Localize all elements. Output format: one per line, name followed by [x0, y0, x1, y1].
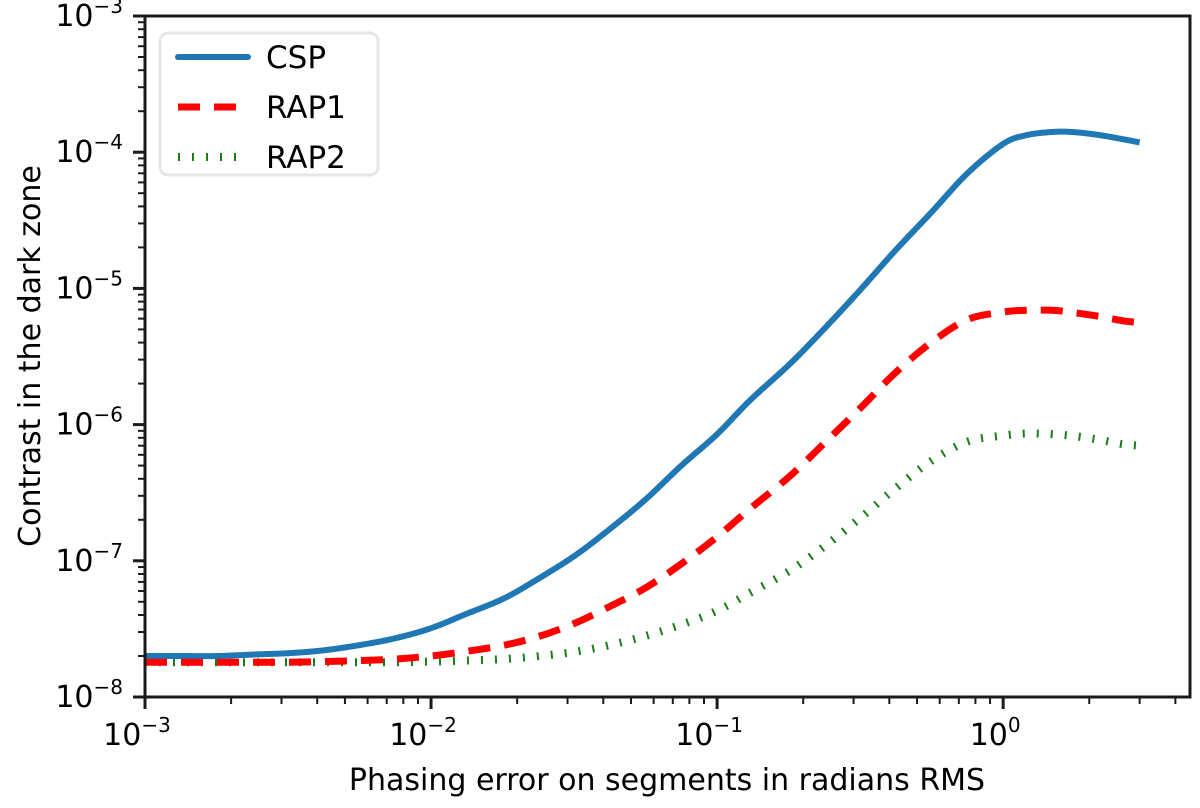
chart-canvas: 10−310−210−1100 10−310−410−510−610−710−8… — [0, 0, 1200, 808]
series-line-rap2 — [145, 433, 1140, 662]
tick-label: 10−4 — [55, 130, 123, 170]
y-axis-major-ticks — [133, 16, 145, 697]
y-axis-tick-labels: 10−310−410−510−610−710−8 — [55, 0, 123, 715]
x-axis-tick-labels: 10−310−210−1100 — [103, 713, 1020, 753]
tick-label: 10−6 — [55, 403, 123, 443]
series-line-csp — [145, 132, 1140, 656]
tick-label: 10−3 — [55, 0, 123, 34]
series-line-rap1 — [145, 310, 1140, 662]
tick-label: 100 — [970, 713, 1021, 753]
chart-legend: CSPRAP1RAP2 — [160, 33, 378, 176]
tick-label: 10−1 — [675, 713, 743, 753]
legend-label-csp: CSP — [266, 40, 326, 76]
legend-label-rap2: RAP2 — [266, 140, 346, 176]
y-axis-title: Contrast in the dark zone — [13, 165, 48, 547]
legend-label-rap1: RAP1 — [266, 90, 346, 126]
data-series-group — [145, 132, 1140, 663]
tick-label: 10−5 — [55, 266, 123, 306]
tick-label: 10−8 — [55, 675, 123, 715]
tick-label: 10−7 — [55, 539, 123, 579]
tick-label: 10−2 — [389, 713, 457, 753]
figure-container: 10−310−210−1100 10−310−410−510−610−710−8… — [0, 0, 1200, 808]
x-axis-title: Phasing error on segments in radians RMS — [349, 763, 985, 798]
tick-label: 10−3 — [103, 713, 171, 753]
x-axis-major-ticks — [145, 697, 1003, 709]
